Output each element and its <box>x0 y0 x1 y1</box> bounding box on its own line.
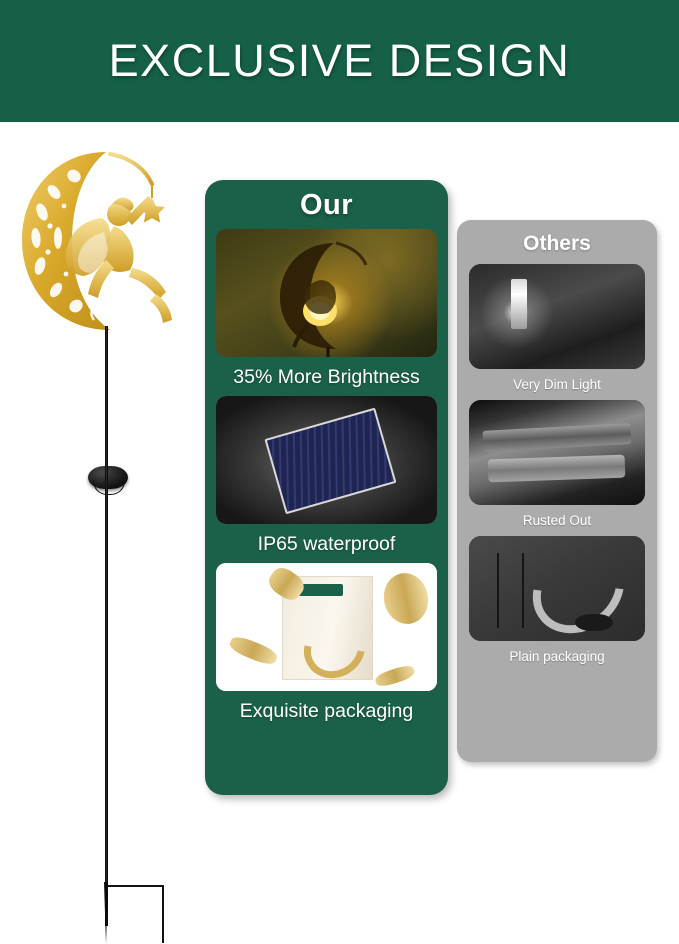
stake-foot-vertical <box>162 885 164 943</box>
header-banner: EXCLUSIVE DESIGN <box>0 0 679 122</box>
page-title: EXCLUSIVE DESIGN <box>109 35 571 87</box>
others-caption: Rusted Out <box>457 513 657 528</box>
others-caption: Plain packaging <box>457 649 657 664</box>
stake-rod <box>105 326 108 926</box>
glowing-moon-fairy-night-photo <box>216 229 437 357</box>
others-comparison-panel: Others Very Dim Light Rusted Out Plain p… <box>457 220 657 762</box>
others-panel-title: Others <box>457 232 657 256</box>
gift-box-with-gold-ribbon-photo <box>216 563 437 691</box>
unwrapped-plain-product-photo <box>469 536 645 641</box>
others-item-rusted-out: Rusted Out <box>457 400 657 528</box>
others-item-very-dim-light: Very Dim Light <box>457 264 657 392</box>
stake-foot-horizontal <box>106 885 164 887</box>
our-item-waterproof: IP65 waterproof <box>205 396 448 556</box>
stake-tip <box>104 882 108 944</box>
our-caption: Exquisite packaging <box>205 700 448 723</box>
others-item-plain-packaging: Plain packaging <box>457 536 657 664</box>
rusted-battery-compartment-photo <box>469 400 645 505</box>
our-caption: 35% More Brightness <box>205 366 448 389</box>
our-caption: IP65 waterproof <box>205 533 448 556</box>
dim-garden-lamp-photo <box>469 264 645 369</box>
product-hero-image <box>0 126 196 816</box>
solar-panel-housing <box>88 466 128 489</box>
solar-panel-closeup-photo <box>216 396 437 524</box>
our-item-brightness: 35% More Brightness <box>205 229 448 389</box>
fairy-moon-icon <box>6 140 184 350</box>
our-panel-title: Our <box>205 189 448 222</box>
others-caption: Very Dim Light <box>457 377 657 392</box>
our-item-packaging: Exquisite packaging <box>205 563 448 723</box>
our-comparison-panel: Our 35% More Brightness IP65 waterproof <box>205 180 448 795</box>
